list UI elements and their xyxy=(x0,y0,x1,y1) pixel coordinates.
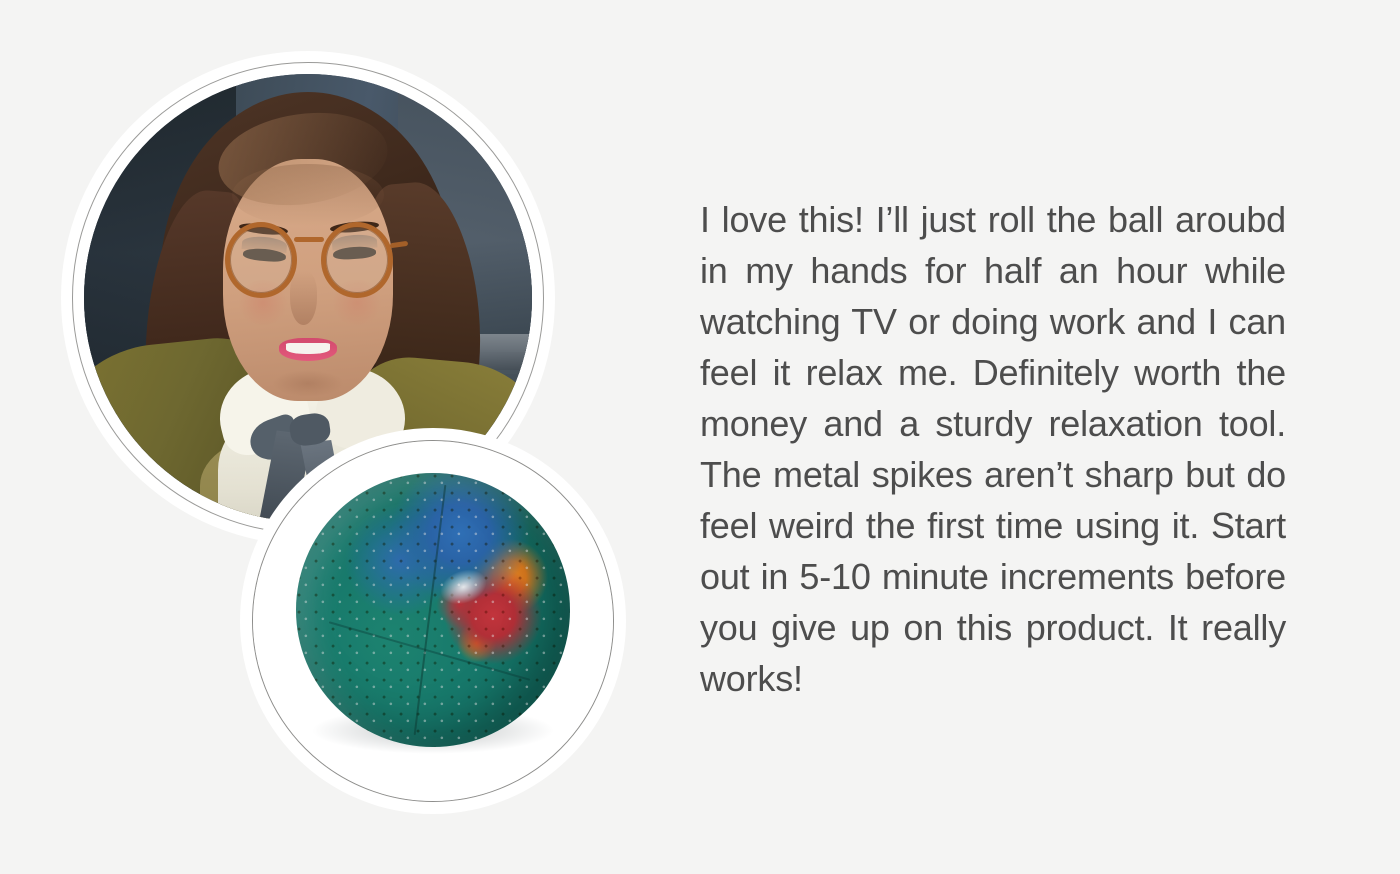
eyeglass-bridge xyxy=(294,237,324,242)
product-frame-ring xyxy=(252,440,614,802)
chin-shading xyxy=(272,370,344,397)
testimonial-card: I love this! I’ll just roll the ball aro… xyxy=(0,0,1400,874)
eyeglass-lens-left xyxy=(225,222,297,298)
ball-spike-highlights xyxy=(296,473,570,747)
customer-review-text: I love this! I’ll just roll the ball aro… xyxy=(700,194,1286,704)
eyeglass-lens-right xyxy=(321,222,393,298)
media-cluster xyxy=(0,0,660,874)
spiky-massage-ball-image xyxy=(253,441,613,801)
teeth xyxy=(286,343,331,354)
product-image-circle xyxy=(240,428,626,814)
eyeglasses xyxy=(225,222,393,298)
